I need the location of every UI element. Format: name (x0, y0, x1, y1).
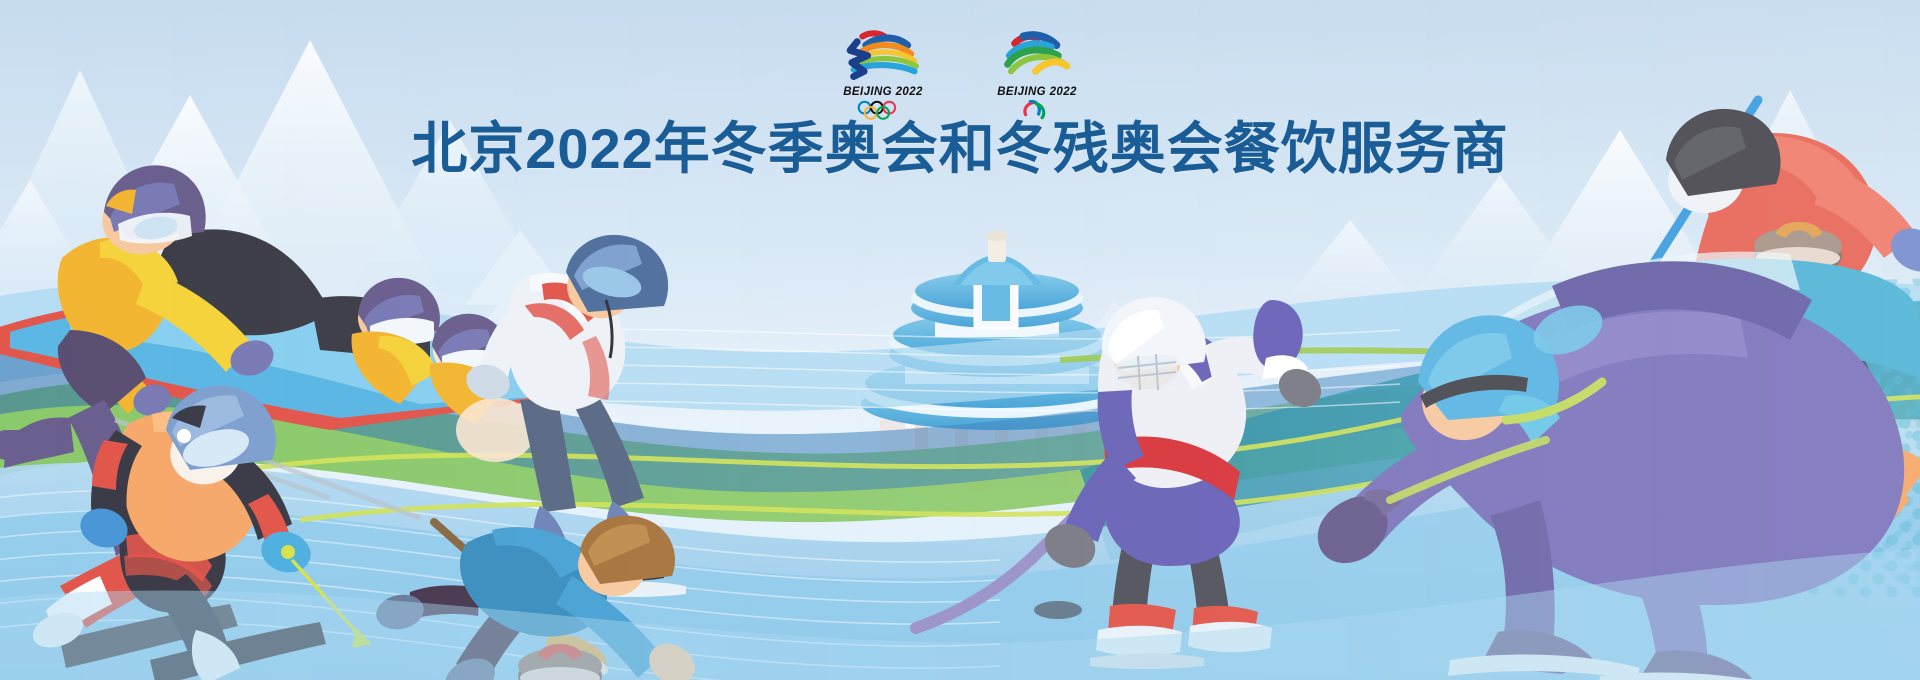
paralympic-agitos (1008, 100, 1067, 120)
olympic-rings (854, 100, 913, 120)
flying-high-emblem (985, 26, 1090, 80)
paralympic-emblem-block: BEIJING 2022 (983, 26, 1091, 125)
emblem-group: BEIJING 2022 (0, 26, 1920, 125)
winter-dream-emblem (831, 26, 936, 80)
olympic-sponsor-banner: BEIJING 2022 (0, 0, 1920, 680)
olympic-emblem-block: BEIJING 2022 (829, 26, 937, 125)
olympic-wordmark: BEIJING 2022 (829, 86, 937, 98)
paralympic-wordmark: BEIJING 2022 (983, 86, 1091, 98)
